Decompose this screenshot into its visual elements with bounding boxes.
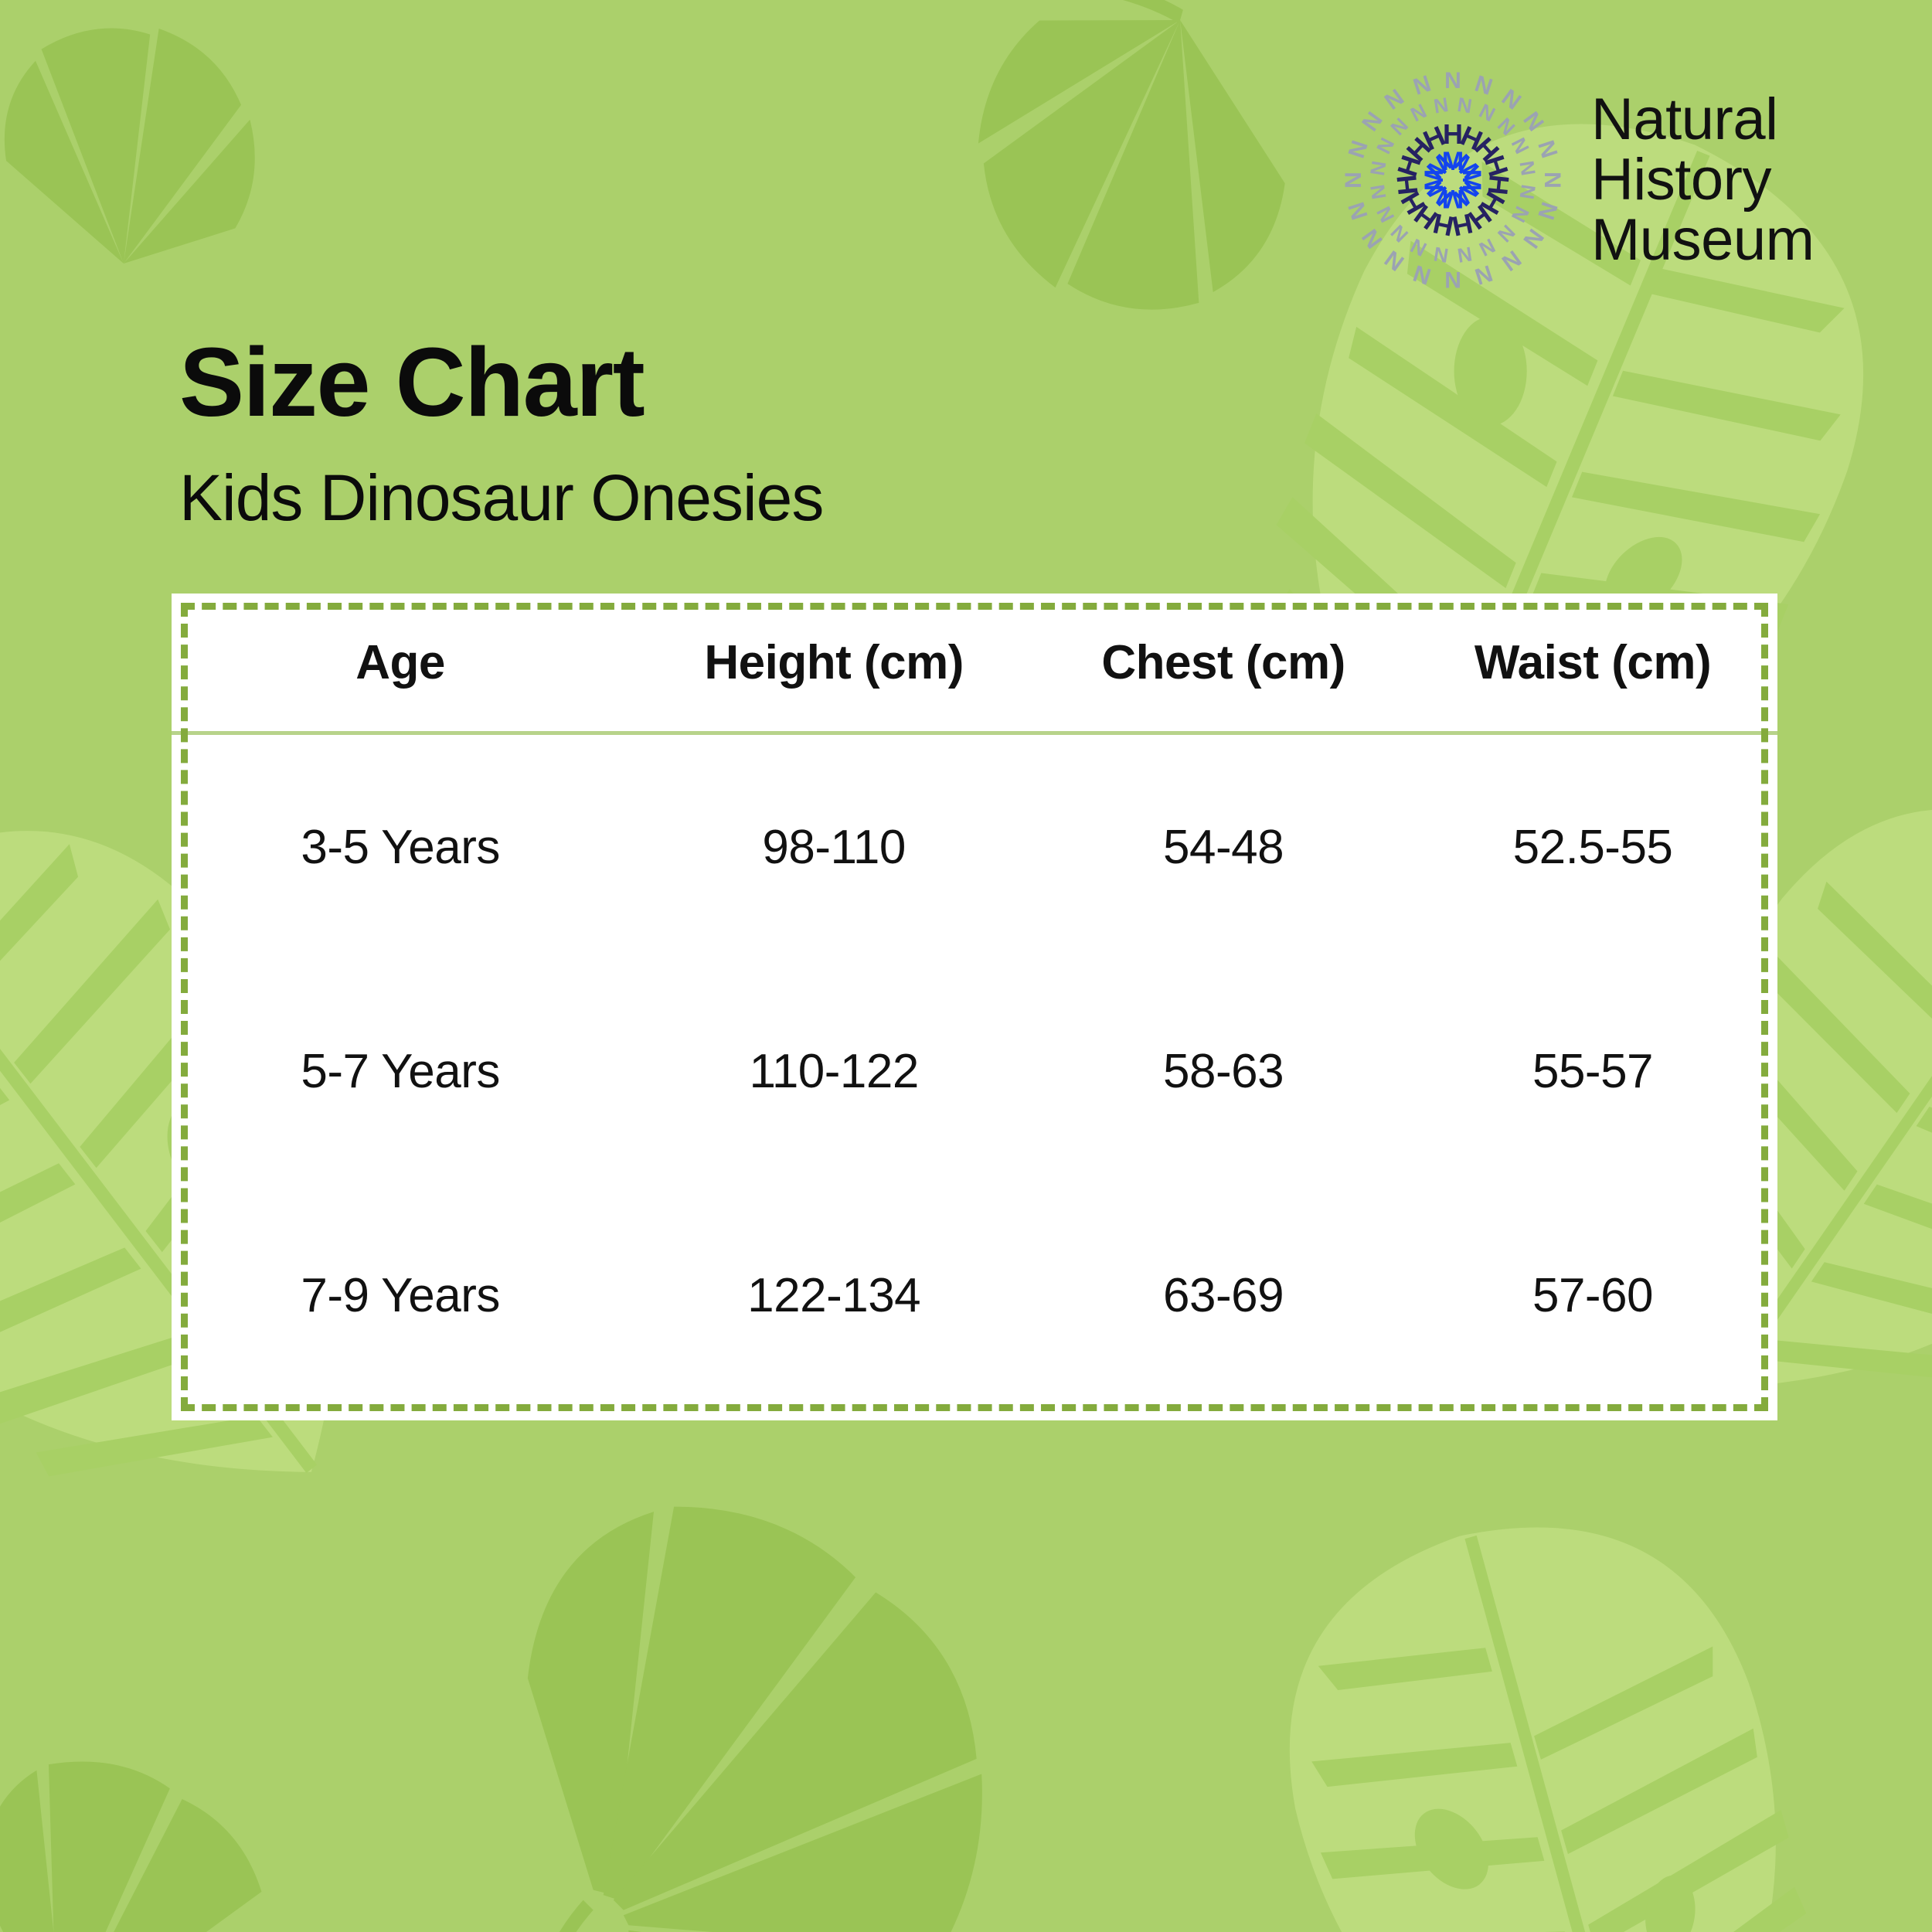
page-title: Size Chart bbox=[179, 334, 823, 431]
svg-text:N: N bbox=[1357, 107, 1387, 136]
cell-age: 7-9 Years bbox=[172, 1183, 629, 1407]
cell-height: 98-110 bbox=[629, 733, 1039, 960]
wordmark-line-2: History bbox=[1591, 150, 1814, 210]
cell-waist: 55-57 bbox=[1408, 959, 1777, 1183]
svg-text:N: N bbox=[1366, 183, 1391, 201]
svg-text:N: N bbox=[1497, 245, 1526, 275]
size-chart-table: Age Height (cm) Chest (cm) Waist (cm) 3-… bbox=[172, 594, 1777, 1407]
svg-text:N: N bbox=[1357, 224, 1387, 253]
fan-leaf-icon bbox=[915, 0, 1357, 397]
table-row: 7-9 Years 122-134 63-69 57-60 bbox=[172, 1183, 1777, 1407]
svg-text:N: N bbox=[1406, 234, 1430, 261]
cell-age: 3-5 Years bbox=[172, 733, 629, 960]
svg-text:N: N bbox=[1410, 260, 1434, 289]
svg-text:N: N bbox=[1518, 107, 1548, 136]
museum-wordmark: Natural History Museum bbox=[1591, 90, 1814, 271]
svg-text:N: N bbox=[1471, 71, 1495, 100]
wordmark-line-3: Museum bbox=[1591, 210, 1814, 270]
svg-text:N: N bbox=[1444, 267, 1461, 292]
svg-text:N: N bbox=[1410, 71, 1434, 100]
cell-waist: 52.5-55 bbox=[1408, 733, 1777, 960]
cell-chest: 54-48 bbox=[1039, 733, 1408, 960]
svg-text:N: N bbox=[1518, 224, 1548, 253]
svg-text:N: N bbox=[1475, 234, 1498, 261]
column-header-height: Height (cm) bbox=[629, 594, 1039, 733]
svg-text:N: N bbox=[1507, 134, 1534, 157]
cell-waist: 57-60 bbox=[1408, 1183, 1777, 1407]
svg-text:N: N bbox=[1380, 84, 1409, 114]
svg-text:N: N bbox=[1344, 138, 1373, 162]
svg-text:N: N bbox=[1475, 99, 1498, 126]
size-chart-card: Age Height (cm) Chest (cm) Waist (cm) 3-… bbox=[172, 594, 1777, 1420]
svg-text:N: N bbox=[1497, 84, 1526, 114]
table-row: 5-7 Years 110-122 58-63 55-57 bbox=[172, 959, 1777, 1183]
table-row: 3-5 Years 98-110 54-48 52.5-55 bbox=[172, 733, 1777, 960]
column-header-waist: Waist (cm) bbox=[1408, 594, 1777, 733]
nhm-radial-burst-logo-icon: N N N N N N N N N N N N N N N N N bbox=[1341, 68, 1565, 292]
svg-text:N: N bbox=[1406, 99, 1430, 126]
svg-text:N: N bbox=[1456, 243, 1474, 268]
table-header-row: Age Height (cm) Chest (cm) Waist (cm) bbox=[172, 594, 1777, 733]
svg-text:N: N bbox=[1432, 93, 1450, 118]
svg-text:N: N bbox=[1444, 68, 1461, 94]
table-body: 3-5 Years 98-110 54-48 52.5-55 5-7 Years… bbox=[172, 733, 1777, 1408]
svg-text:N: N bbox=[1344, 199, 1373, 223]
heading-block: Size Chart Kids Dinosaur Onesies bbox=[179, 334, 823, 530]
svg-text:N: N bbox=[1471, 260, 1495, 289]
svg-text:N: N bbox=[1539, 172, 1565, 189]
fan-leaf-icon bbox=[0, 0, 270, 294]
cell-height: 110-122 bbox=[629, 959, 1039, 1183]
svg-text:N: N bbox=[1366, 159, 1391, 177]
cell-chest: 58-63 bbox=[1039, 959, 1408, 1183]
svg-text:N: N bbox=[1341, 172, 1366, 189]
svg-text:N: N bbox=[1532, 199, 1562, 223]
svg-text:N: N bbox=[1456, 93, 1474, 118]
svg-text:N: N bbox=[1380, 245, 1409, 275]
column-header-chest: Chest (cm) bbox=[1039, 594, 1408, 733]
svg-text:N: N bbox=[1432, 243, 1450, 268]
table-header: Age Height (cm) Chest (cm) Waist (cm) bbox=[172, 594, 1777, 733]
cell-height: 122-134 bbox=[629, 1183, 1039, 1407]
wordmark-line-1: Natural bbox=[1591, 90, 1814, 150]
size-chart-poster: N N N N N N N N N N N N N N N N N bbox=[0, 0, 1932, 1932]
svg-text:N: N bbox=[1372, 202, 1399, 226]
svg-text:N: N bbox=[1515, 183, 1541, 201]
svg-text:N: N bbox=[1507, 202, 1534, 226]
svg-text:N: N bbox=[1372, 134, 1399, 157]
page-subtitle: Kids Dinosaur Onesies bbox=[179, 465, 823, 530]
cell-age: 5-7 Years bbox=[172, 959, 629, 1183]
svg-text:N: N bbox=[1515, 159, 1541, 177]
fan-leaf-icon bbox=[464, 1492, 1036, 1932]
svg-text:N: N bbox=[1532, 138, 1562, 162]
cell-chest: 63-69 bbox=[1039, 1183, 1408, 1407]
museum-logo: N N N N N N N N N N N N N N N N N bbox=[1341, 68, 1814, 292]
banana-leaf-icon bbox=[1153, 1440, 1932, 1932]
fan-leaf-icon bbox=[0, 1693, 307, 1932]
column-header-age: Age bbox=[172, 594, 629, 733]
